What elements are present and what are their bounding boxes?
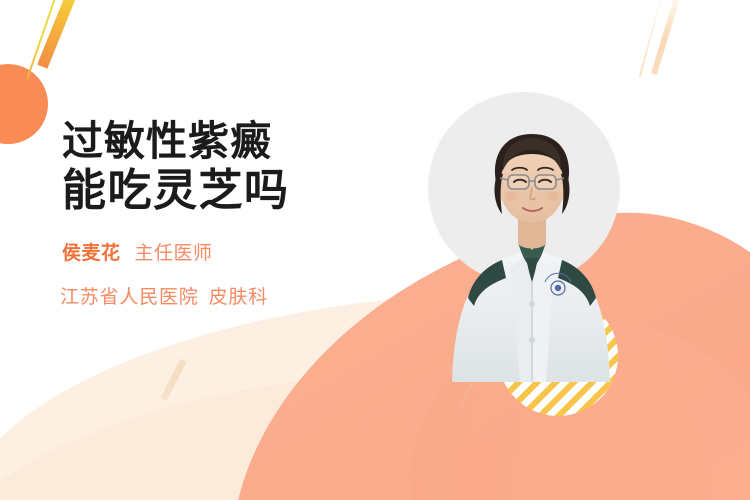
department-name: 皮肤科 [209,287,268,308]
hospital-name: 江苏省人民医院 [60,287,199,308]
doctor-affiliation: 江苏省人民医院皮肤科 [60,288,268,307]
doctor-name: 侯麦花 [62,243,121,264]
doctor-byline: 侯麦花主任医师 [62,244,213,263]
doctor-portrait-photo [448,92,624,382]
faint-stripe-bottom-left-icon [160,359,186,401]
headline-line-1: 过敏性紫癜 [62,116,290,166]
poster-canvas: 过敏性紫癜 能吃灵芝吗 侯麦花主任医师 江苏省人民医院皮肤科 [0,0,750,500]
thin-gold-line-icon [26,0,60,80]
doctor-title: 主任医师 [135,243,213,264]
faint-line-top-right-icon [639,0,663,77]
headline-line-2: 能吃灵芝吗 [62,166,290,216]
page-title: 过敏性紫癜 能吃灵芝吗 [62,116,290,216]
orange-circle-icon [0,64,48,144]
gold-stripe-icon [37,0,82,69]
faint-stripe-top-right-icon [651,0,683,75]
